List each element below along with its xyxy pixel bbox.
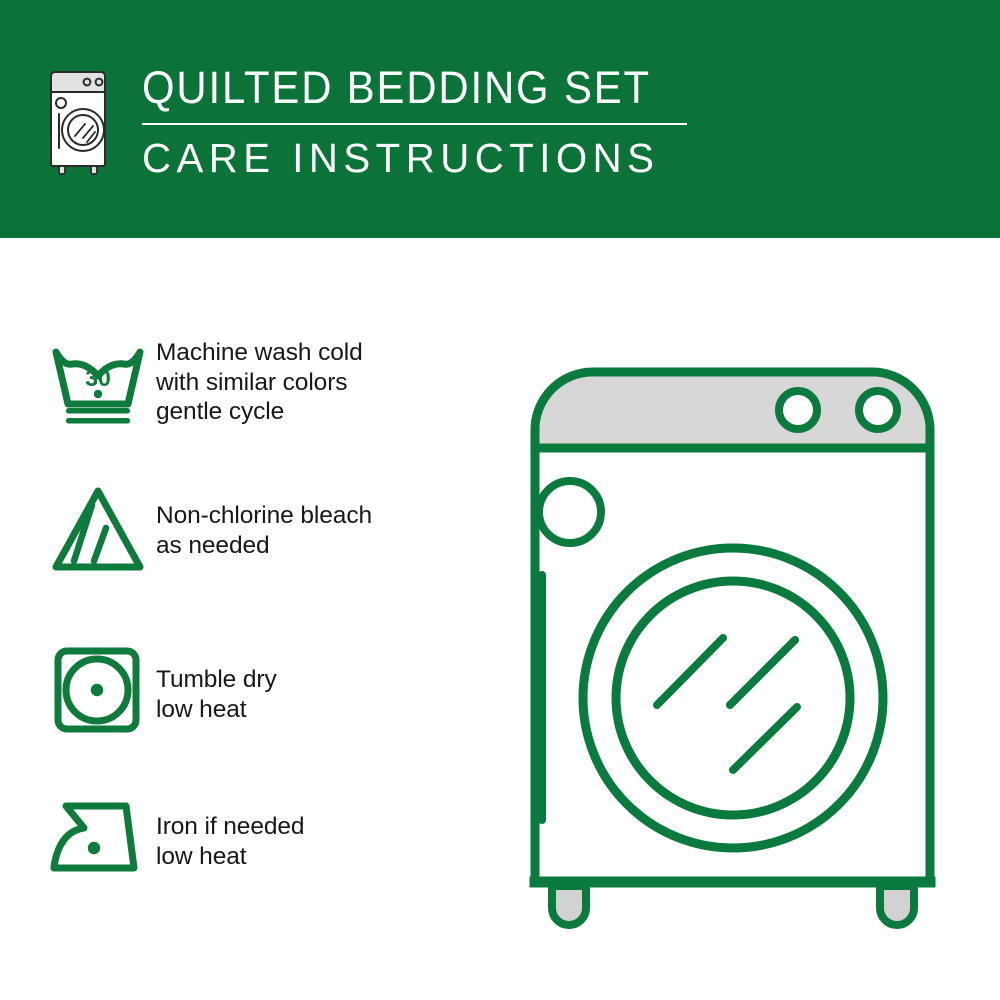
washing-machine-icon bbox=[45, 68, 117, 178]
care-item-wash-text: Machine wash cold with similar colors ge… bbox=[156, 338, 363, 427]
care-text-line: with similar colors bbox=[156, 368, 363, 398]
care-text-line: as needed bbox=[156, 531, 372, 561]
control-knob bbox=[779, 391, 817, 429]
care-text-line: Tumble dry bbox=[156, 665, 277, 695]
wash-tub-30-gentle-icon: 30 bbox=[48, 338, 156, 428]
title-divider bbox=[142, 123, 687, 125]
control-knob bbox=[859, 391, 897, 429]
care-item-bleach-text: Non-chlorine bleach as needed bbox=[156, 483, 372, 560]
wash-temperature-label: 30 bbox=[85, 365, 111, 391]
care-item-bleach: Non-chlorine bleach as needed bbox=[48, 483, 468, 575]
care-text-line: low heat bbox=[156, 695, 277, 725]
header-title-group: QUILTED BEDDING SET CARE INSTRUCTIONS bbox=[142, 62, 702, 182]
care-text-line: Machine wash cold bbox=[156, 338, 363, 368]
iron-low-heat-icon bbox=[48, 798, 156, 880]
detergent-dispenser bbox=[539, 481, 601, 543]
care-item-tumble-dry-text: Tumble dry low heat bbox=[156, 643, 277, 724]
care-text-line: Non-chlorine bleach bbox=[156, 501, 372, 531]
header-banner: QUILTED BEDDING SET CARE INSTRUCTIONS bbox=[0, 0, 1000, 238]
care-text-line: low heat bbox=[156, 842, 304, 872]
care-instruction-list: 30 Machine wash cold with similar colors… bbox=[0, 238, 480, 1000]
care-item-tumble-dry: Tumble dry low heat bbox=[48, 643, 468, 735]
non-chlorine-bleach-triangle-icon bbox=[48, 483, 156, 575]
machine-leg bbox=[552, 886, 586, 925]
care-text-line: Iron if needed bbox=[156, 812, 304, 842]
tumble-dry-low-heat-icon bbox=[48, 643, 156, 735]
machine-leg bbox=[880, 886, 914, 925]
page-subtitle: CARE INSTRUCTIONS bbox=[142, 134, 691, 182]
care-text-line: gentle cycle bbox=[156, 397, 363, 427]
care-item-iron-text: Iron if needed low heat bbox=[156, 798, 304, 871]
page-title: QUILTED BEDDING SET bbox=[142, 62, 663, 114]
care-item-wash: 30 Machine wash cold with similar colors… bbox=[48, 338, 468, 428]
care-item-iron: Iron if needed low heat bbox=[48, 798, 468, 880]
washing-machine-illustration bbox=[495, 330, 970, 930]
